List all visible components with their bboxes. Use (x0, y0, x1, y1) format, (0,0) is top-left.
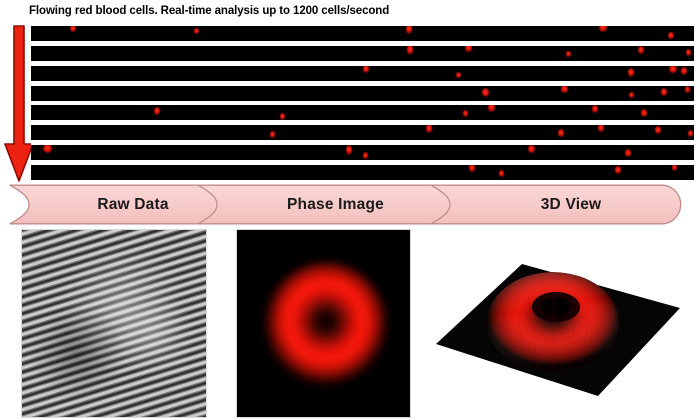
blood-cell-blob (456, 72, 461, 78)
blood-cell-blob (625, 149, 631, 157)
flow-channel (31, 26, 694, 41)
blood-cell-blob (669, 66, 677, 73)
workflow-step-phase-image[interactable]: Phase Image (223, 184, 448, 225)
blood-cell-blob (528, 145, 535, 153)
blood-cell-blob (592, 105, 598, 113)
workflow-step-3d-view[interactable]: 3D View (456, 184, 686, 225)
3d-cell-dimple-core (541, 297, 571, 315)
blood-cell-blob (615, 166, 621, 174)
flow-channel (31, 86, 694, 101)
blood-cell-blob (469, 165, 475, 172)
blood-cell-blob (407, 46, 413, 55)
raw-hologram-image (21, 229, 207, 418)
blood-cell-blob (463, 110, 468, 117)
blood-cell-blob (655, 126, 661, 134)
blood-cell-blob (70, 26, 76, 32)
flow-channel (31, 66, 694, 81)
blood-cell-blob (685, 86, 690, 93)
blood-cell-blob (561, 86, 568, 93)
blood-cell-blob (270, 131, 275, 138)
flow-channels-panel (31, 26, 694, 184)
flow-channel (31, 105, 694, 120)
workflow-banner: Raw Data Phase Image 3D View (8, 184, 692, 225)
blood-cell-blob (599, 26, 607, 32)
blood-cell-blob (499, 170, 504, 177)
blood-cell-blob (154, 107, 160, 115)
blood-cell-blob (686, 49, 691, 56)
blood-cell-blob (488, 105, 495, 112)
blood-cell-blob (194, 28, 199, 34)
flow-channel (31, 46, 694, 61)
blood-cell-blob (363, 152, 368, 159)
blood-cell-blob (558, 129, 564, 137)
flow-channel (31, 125, 694, 140)
blood-cell-blob (482, 88, 489, 97)
hologram-fringe-pattern (22, 230, 206, 417)
blood-cell-blob (668, 32, 674, 39)
workflow-step-raw-data[interactable]: Raw Data (48, 184, 218, 225)
3d-surface-view (430, 250, 696, 418)
blood-cell-blob (641, 109, 647, 117)
page-title: Flowing red blood cells. Real-time analy… (29, 5, 389, 17)
blood-cell-blob (363, 66, 369, 73)
blood-cell-blob (465, 46, 472, 52)
blood-cell-blob (346, 145, 352, 155)
blood-cell-blob (426, 125, 432, 133)
flow-channel (31, 145, 694, 160)
blood-cell-blob (629, 92, 634, 98)
blood-cell-blob (688, 130, 693, 137)
phase-image-cell (264, 262, 388, 388)
blood-cell-blob (661, 88, 667, 96)
blood-cell-blob (43, 145, 52, 153)
blood-cell-blob (628, 68, 634, 77)
blood-cell-blob (566, 51, 571, 57)
blood-cell-blob (672, 165, 677, 171)
blood-cell-blob (638, 46, 644, 54)
3d-surface-plot (430, 250, 696, 418)
blood-cell-blob (681, 67, 687, 75)
blood-cell-blob (598, 125, 604, 132)
blood-cell-blob (406, 26, 412, 34)
phase-image (236, 229, 411, 418)
blood-cell-blob (280, 113, 285, 120)
flow-channel (31, 165, 694, 180)
